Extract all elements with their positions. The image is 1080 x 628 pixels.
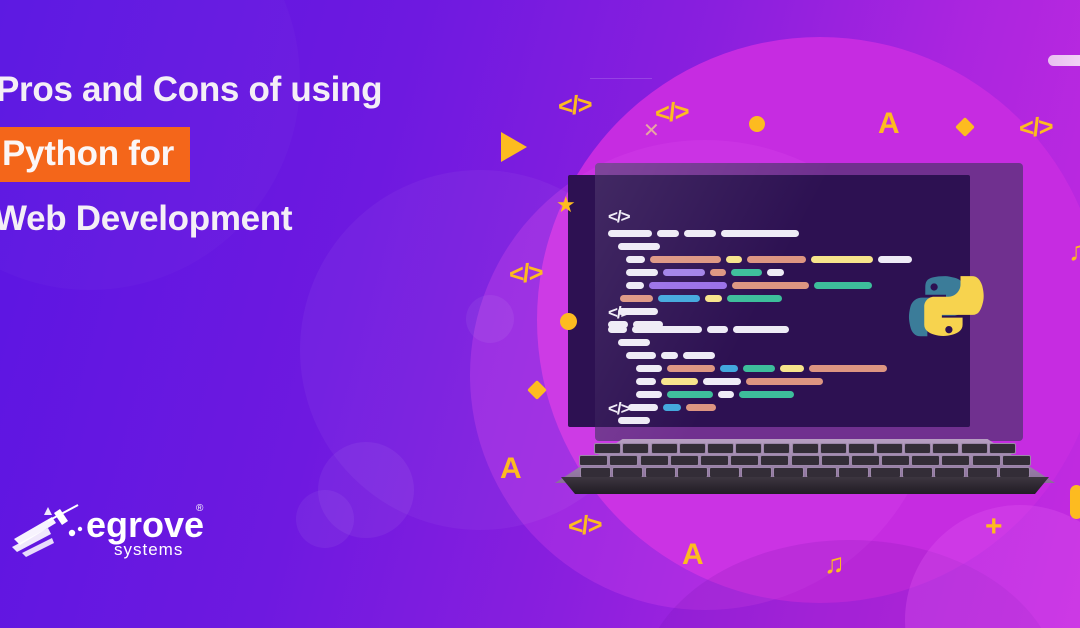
code-line-segment	[732, 282, 809, 289]
code-tag-icon-1: </>	[608, 207, 630, 227]
code-line-segment	[733, 326, 789, 333]
code-line-segment	[707, 326, 728, 333]
code-line-segment	[608, 326, 627, 333]
headline-line-3: Web Development	[0, 201, 520, 236]
code-line-segment	[703, 378, 741, 385]
code-line-segment	[608, 230, 652, 237]
code-bracket-icon-3: </>	[508, 257, 543, 290]
code-line-segment	[721, 230, 799, 237]
keyboard-key[interactable]	[999, 467, 1030, 478]
code-line-segment	[683, 352, 715, 359]
keyboard-key[interactable]	[707, 443, 734, 454]
keyboard-key[interactable]	[580, 467, 611, 478]
keyboard-key[interactable]	[934, 467, 965, 478]
code-line-segment	[767, 269, 784, 276]
code-line-segment	[743, 365, 775, 372]
keyboard-key[interactable]	[763, 443, 790, 454]
code-line-segment	[809, 365, 887, 372]
headline-line-1: Pros and Cons of using	[0, 72, 520, 107]
code-line-segment	[626, 282, 644, 289]
keyboard-key[interactable]	[989, 443, 1016, 454]
pill-right-edge	[1070, 485, 1080, 519]
code-line-segment	[620, 295, 653, 302]
music-note-icon-1: ♫	[1068, 235, 1080, 267]
keyboard-key[interactable]	[645, 467, 676, 478]
code-bracket-icon-5: </>	[567, 509, 602, 542]
keyboard-key[interactable]	[904, 443, 931, 454]
keyboard-key[interactable]	[961, 443, 988, 454]
keyboard-key[interactable]	[730, 455, 759, 466]
code-line-segment	[636, 378, 656, 385]
letter-a-icon-2: A	[500, 452, 522, 486]
code-tag-icon-3: </>	[608, 399, 630, 419]
code-tag-icon-2: </>	[608, 303, 630, 323]
keyboard-key[interactable]	[902, 467, 933, 478]
code-line-segment	[667, 391, 713, 398]
keyboard-key[interactable]	[876, 443, 903, 454]
code-line-segment	[780, 365, 804, 372]
code-line-segment	[718, 391, 734, 398]
keyboard-key[interactable]	[881, 455, 910, 466]
code-line-segment	[626, 256, 645, 263]
code-line-segment	[626, 269, 658, 276]
keyboard-key[interactable]	[911, 455, 940, 466]
keyboard-row-2	[555, 455, 1055, 466]
code-bracket-icon-2: </>	[654, 96, 689, 129]
keyboard-key[interactable]	[677, 467, 708, 478]
code-line-segment	[618, 243, 660, 250]
background-shadow-bottom	[640, 540, 1060, 628]
keyboard-key[interactable]	[651, 443, 678, 454]
code-line-segment	[667, 365, 715, 372]
code-line-segment	[705, 295, 722, 302]
python-logo	[908, 272, 984, 348]
keyboard-key[interactable]	[972, 455, 1001, 466]
keyboard-key[interactable]	[791, 455, 820, 466]
letter-a-icon-3: A	[682, 538, 704, 572]
egrove-logo[interactable]: egrove ® systems	[8, 495, 208, 567]
background-circle-bottomright	[905, 505, 1080, 628]
code-line-segment	[663, 404, 681, 411]
code-line-segment	[657, 230, 679, 237]
keyboard-key[interactable]	[792, 443, 819, 454]
code-line-segment	[710, 269, 726, 276]
laptop-base	[555, 477, 1055, 494]
keyboard-key[interactable]	[838, 467, 869, 478]
banner-root: Pros and Cons of using Python for Web De…	[0, 0, 1080, 628]
logo-trademark: ®	[196, 503, 204, 514]
code-line-segment	[726, 256, 742, 263]
code-line-segment	[626, 352, 656, 359]
code-line-segment	[632, 326, 702, 333]
music-note-icon-2: ♫	[824, 548, 845, 580]
code-line-segment	[814, 282, 872, 289]
keyboard-key[interactable]	[679, 443, 706, 454]
pill-top-right	[1048, 55, 1080, 66]
code-line-segment	[618, 339, 650, 346]
keyboard-key[interactable]	[967, 467, 998, 478]
code-line-segment	[684, 230, 716, 237]
keyboard-key[interactable]	[870, 467, 901, 478]
headline-line-2: Python for	[2, 134, 174, 173]
headline-block: Pros and Cons of using Python for Web De…	[0, 72, 520, 236]
headline-highlight-box: Python for	[0, 127, 190, 182]
keyboard-key[interactable]	[741, 467, 772, 478]
code-line-segment	[628, 404, 658, 411]
keyboard-key[interactable]	[709, 467, 740, 478]
code-line-segment	[811, 256, 873, 263]
hairline-divider	[590, 78, 652, 79]
background-circle-bottomleft-1	[318, 442, 414, 538]
code-bracket-icon-4: </>	[1018, 111, 1053, 144]
code-line-segment	[661, 378, 698, 385]
keyboard-key[interactable]	[941, 455, 970, 466]
background-circle-midleft	[466, 295, 514, 343]
code-line-segment	[746, 378, 823, 385]
keyboard-key[interactable]	[670, 455, 699, 466]
keyboard-key[interactable]	[640, 455, 669, 466]
logo-svg: egrove ® systems	[8, 495, 208, 567]
laptop-keyboard	[555, 441, 1055, 481]
python-logo-svg	[908, 272, 984, 348]
keyboard-row-1	[555, 443, 1055, 454]
code-line-segment	[649, 282, 727, 289]
keyboard-key[interactable]	[821, 455, 850, 466]
rocket-swoosh-icon	[12, 505, 82, 557]
code-line-segment	[663, 269, 705, 276]
keyboard-key[interactable]	[579, 455, 608, 466]
code-line-segment	[727, 295, 782, 302]
background-circle-bottomleft-2	[296, 490, 354, 548]
keyboard-key[interactable]	[735, 443, 762, 454]
keyboard-key[interactable]	[760, 455, 789, 466]
plus-icon: +	[985, 510, 1003, 544]
keyboard-key[interactable]	[820, 443, 847, 454]
letter-a-icon-1: A	[878, 107, 900, 141]
keyboard-key[interactable]	[700, 455, 729, 466]
code-line-segment	[720, 365, 738, 372]
code-line-segment	[636, 365, 662, 372]
code-line-segment	[658, 295, 700, 302]
keyboard-key[interactable]	[609, 455, 638, 466]
code-line-segment	[661, 352, 678, 359]
logo-wordmark: egrove	[86, 504, 204, 545]
keyboard-key[interactable]	[1002, 455, 1031, 466]
logo-subtitle: systems	[114, 540, 183, 559]
code-line-segment	[686, 404, 716, 411]
code-line-segment	[731, 269, 762, 276]
diamond-icon-1	[955, 117, 975, 137]
keyboard-key[interactable]	[612, 467, 643, 478]
code-bracket-icon-1: </>	[557, 89, 592, 122]
code-line-segment	[747, 256, 806, 263]
code-line-segment	[878, 256, 912, 263]
code-line-segment	[636, 391, 662, 398]
keyboard-key[interactable]	[594, 443, 621, 454]
keyboard-key[interactable]	[851, 455, 880, 466]
code-line-segment	[739, 391, 794, 398]
x-mark-icon: ✕	[643, 118, 660, 143]
keyboard-key[interactable]	[848, 443, 875, 454]
dot-icon-1	[749, 116, 765, 132]
code-line-segment	[650, 256, 721, 263]
diamond-icon-2	[527, 380, 547, 400]
keyboard-key[interactable]	[932, 443, 959, 454]
keyboard-key[interactable]	[622, 443, 649, 454]
